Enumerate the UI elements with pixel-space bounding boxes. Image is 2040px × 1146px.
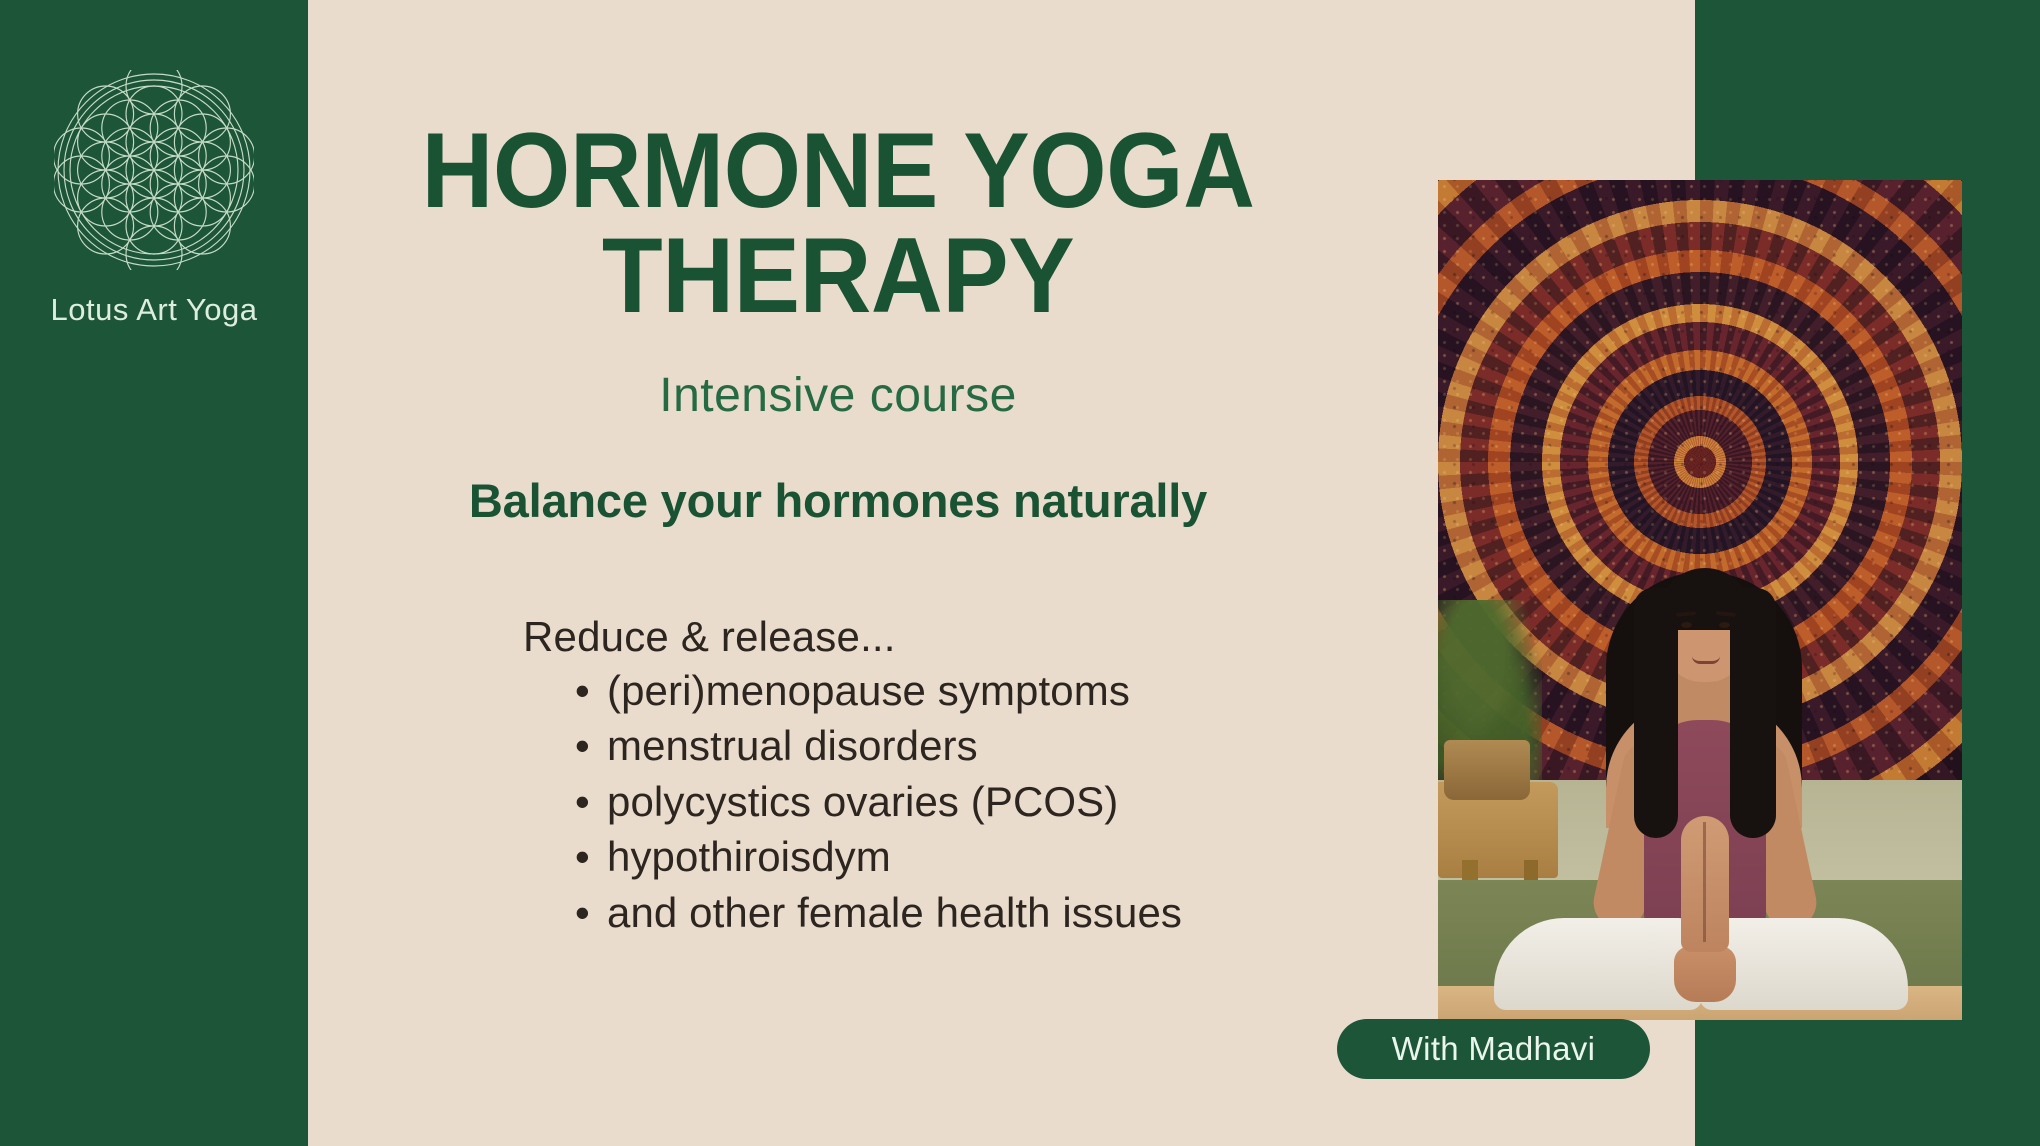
instructor-figure xyxy=(1438,180,1962,1020)
course-tagline: Balance your hormones naturally xyxy=(308,473,1368,528)
eye-left xyxy=(1681,622,1692,628)
course-subtitle: Intensive course xyxy=(308,368,1368,423)
list-item: polycystics ovaries (PCOS) xyxy=(575,774,1182,829)
brand-logo-block: Lotus Art Yoga xyxy=(0,70,308,328)
list-item: hypothiroisdym xyxy=(575,829,1182,884)
hair-right-strand xyxy=(1730,588,1776,838)
list-item: menstrual disorders xyxy=(575,718,1182,773)
feet xyxy=(1674,946,1736,1002)
pants-left xyxy=(1494,918,1702,1010)
page-title-line-1: HORMONE YOGA xyxy=(345,118,1331,223)
mouth xyxy=(1692,656,1720,664)
benefits-intro: Reduce & release... xyxy=(523,613,1182,661)
poster-canvas: Lotus Art Yoga HORMONE YOGA THERAPY Inte… xyxy=(0,0,2040,1146)
benefits-block: Reduce & release... (peri)menopause symp… xyxy=(523,613,1182,940)
brand-name-label: Lotus Art Yoga xyxy=(0,292,308,328)
list-item: (peri)menopause symptoms xyxy=(575,663,1182,718)
list-item: and other female health issues xyxy=(575,885,1182,940)
photo-content xyxy=(1438,180,1962,1020)
instructor-photo xyxy=(1438,180,1962,1020)
flower-of-life-icon xyxy=(54,70,254,270)
eye-right xyxy=(1719,622,1730,628)
page-title: HORMONE YOGA THERAPY xyxy=(345,118,1331,328)
hands-anjali-mudra xyxy=(1681,816,1729,952)
hair-left-strand xyxy=(1634,588,1678,838)
benefits-list: (peri)menopause symptoms menstrual disor… xyxy=(523,663,1182,940)
page-title-line-2: THERAPY xyxy=(345,223,1331,328)
instructor-badge: With Madhavi xyxy=(1337,1019,1650,1079)
